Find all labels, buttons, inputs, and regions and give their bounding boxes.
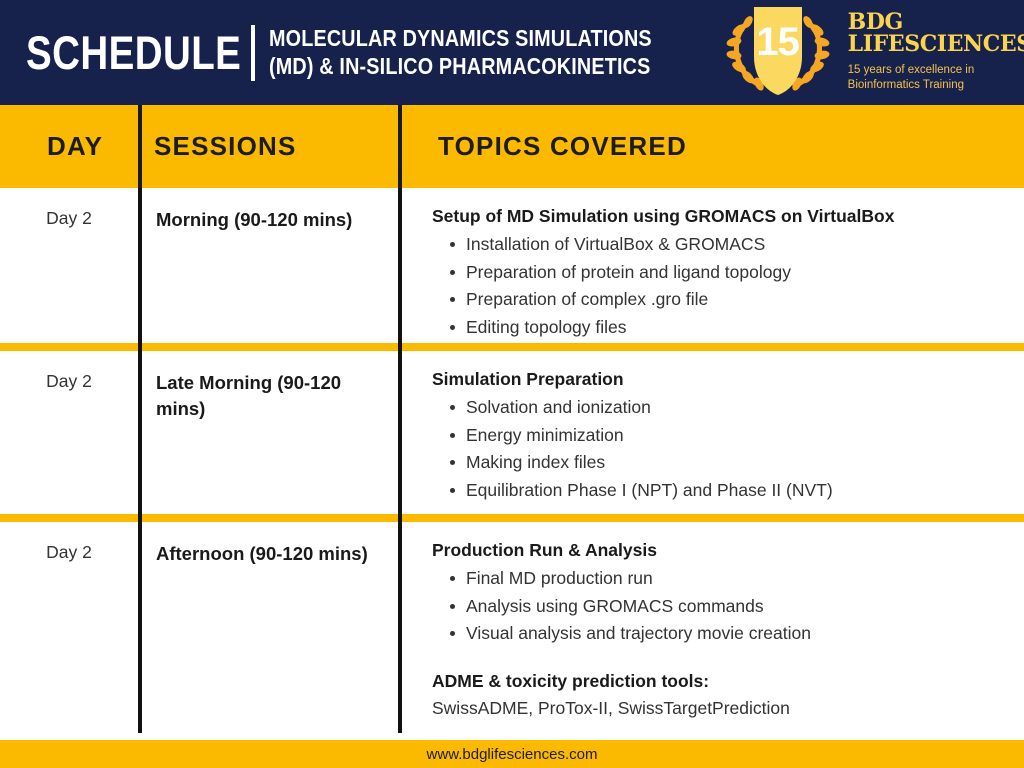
column-header-topics: TOPICS COVERED xyxy=(402,105,1024,188)
column-header-sessions: SESSIONS xyxy=(142,105,398,188)
column-header-day: DAY xyxy=(0,105,138,188)
page-footer: www.bdglifesciences.com xyxy=(0,740,1024,768)
row-session-label: Morning (90-120 mins) xyxy=(142,188,398,233)
page-title: SCHEDULE xyxy=(26,29,241,76)
row-cell-session: Afternoon (90-120 mins) xyxy=(138,522,402,733)
header-cell-day: DAY xyxy=(0,105,138,188)
row-day-label: Day 2 xyxy=(0,188,138,229)
list-item: Visual analysis and trajectory movie cre… xyxy=(466,620,1014,648)
list-item: Making index files xyxy=(466,449,1014,477)
row-cell-day: Day 2 xyxy=(0,351,138,514)
brand-text: BDG LIFESCIENCES 15 years of excellence … xyxy=(848,11,1024,95)
list-item: Preparation of protein and ligand topolo… xyxy=(466,259,1014,287)
row-cell-day: Day 2 xyxy=(0,188,138,343)
brand-name-line-2: LIFESCIENCES xyxy=(848,33,1024,55)
row-session-label: Afternoon (90-120 mins) xyxy=(142,522,398,567)
topic-heading: Simulation Preparation xyxy=(432,368,1014,391)
brand-name-line-1: BDG xyxy=(848,11,1024,33)
page-subtitle-line-2: (MD) & IN-SILICO PHARMACOKINETICS xyxy=(269,53,652,80)
row-separator xyxy=(0,514,1024,522)
topic-bullet-list: Installation of VirtualBox & GROMACS Pre… xyxy=(432,231,1014,342)
brand-tagline-line-1: 15 years of excellence in xyxy=(848,63,1024,79)
row-topics-content: Production Run & Analysis Final MD produ… xyxy=(402,522,1024,720)
page-subtitle: MOLECULAR DYNAMICS SIMULATIONS (MD) & IN… xyxy=(269,25,652,79)
table-row: Day 2 Afternoon (90-120 mins) Production… xyxy=(0,522,1024,733)
row-day-label: Day 2 xyxy=(0,522,138,563)
row-cell-topics: Setup of MD Simulation using GROMACS on … xyxy=(402,188,1024,343)
list-item: Analysis using GROMACS commands xyxy=(466,593,1014,621)
footer-website: www.bdglifesciences.com xyxy=(427,746,598,763)
topic-bullet-list: Final MD production run Analysis using G… xyxy=(432,565,1014,648)
header-cell-topics: TOPICS COVERED xyxy=(402,105,1024,188)
list-item: Solvation and ionization xyxy=(466,394,1014,422)
row-topics-content: Setup of MD Simulation using GROMACS on … xyxy=(402,188,1024,342)
topic-subheading: ADME & toxicity prediction tools: xyxy=(432,670,1014,693)
row-cell-topics: Simulation Preparation Solvation and ion… xyxy=(402,351,1024,514)
schedule-page: SCHEDULE MOLECULAR DYNAMICS SIMULATIONS … xyxy=(0,0,1024,768)
row-day-label: Day 2 xyxy=(0,351,138,392)
list-item: Installation of VirtualBox & GROMACS xyxy=(466,231,1014,259)
table-row: Day 2 Late Morning (90-120 mins) Simulat… xyxy=(0,351,1024,514)
page-banner: SCHEDULE MOLECULAR DYNAMICS SIMULATIONS … xyxy=(0,0,1024,105)
list-item: Preparation of complex .gro file xyxy=(466,286,1014,314)
topic-heading: Setup of MD Simulation using GROMACS on … xyxy=(432,205,1014,228)
shield-number: 15 xyxy=(756,20,799,65)
row-session-label: Late Morning (90-120 mins) xyxy=(142,351,398,423)
row-topics-content: Simulation Preparation Solvation and ion… xyxy=(402,351,1024,505)
table-row: Day 2 Morning (90-120 mins) Setup of MD … xyxy=(0,188,1024,343)
topic-heading: Production Run & Analysis xyxy=(432,539,1014,562)
row-cell-session: Morning (90-120 mins) xyxy=(138,188,402,343)
row-cell-topics: Production Run & Analysis Final MD produ… xyxy=(402,522,1024,733)
page-subtitle-line-1: MOLECULAR DYNAMICS SIMULATIONS xyxy=(269,25,652,52)
shield-laurel-icon: 15 xyxy=(714,5,842,101)
list-item: Equilibration Phase I (NPT) and Phase II… xyxy=(466,477,1014,505)
brand-name: BDG LIFESCIENCES xyxy=(848,11,1024,56)
list-item: Final MD production run xyxy=(466,565,1014,593)
schedule-table: DAY SESSIONS TOPICS COVERED Day 2 Mornin… xyxy=(0,105,1024,740)
topic-note: SwissADME, ProTox-II, SwissTargetPredict… xyxy=(432,696,1014,721)
list-item: Editing topology files xyxy=(466,314,1014,342)
row-cell-day: Day 2 xyxy=(0,522,138,733)
brand-logo: 15 BDG LIFESCIENCES 15 years of excellen… xyxy=(714,5,1024,101)
title-divider xyxy=(251,25,255,81)
brand-tagline: 15 years of excellence in Bioinformatics… xyxy=(848,63,1024,95)
row-separator xyxy=(0,343,1024,351)
header-cell-sessions: SESSIONS xyxy=(138,105,402,188)
banner-title-group: SCHEDULE MOLECULAR DYNAMICS SIMULATIONS … xyxy=(26,25,714,81)
brand-tagline-line-2: Bioinformatics Training xyxy=(848,78,1024,94)
table-header-row: DAY SESSIONS TOPICS COVERED xyxy=(0,105,1024,188)
list-item: Energy minimization xyxy=(466,422,1014,450)
row-cell-session: Late Morning (90-120 mins) xyxy=(138,351,402,514)
topic-bullet-list: Solvation and ionization Energy minimiza… xyxy=(432,394,1014,505)
